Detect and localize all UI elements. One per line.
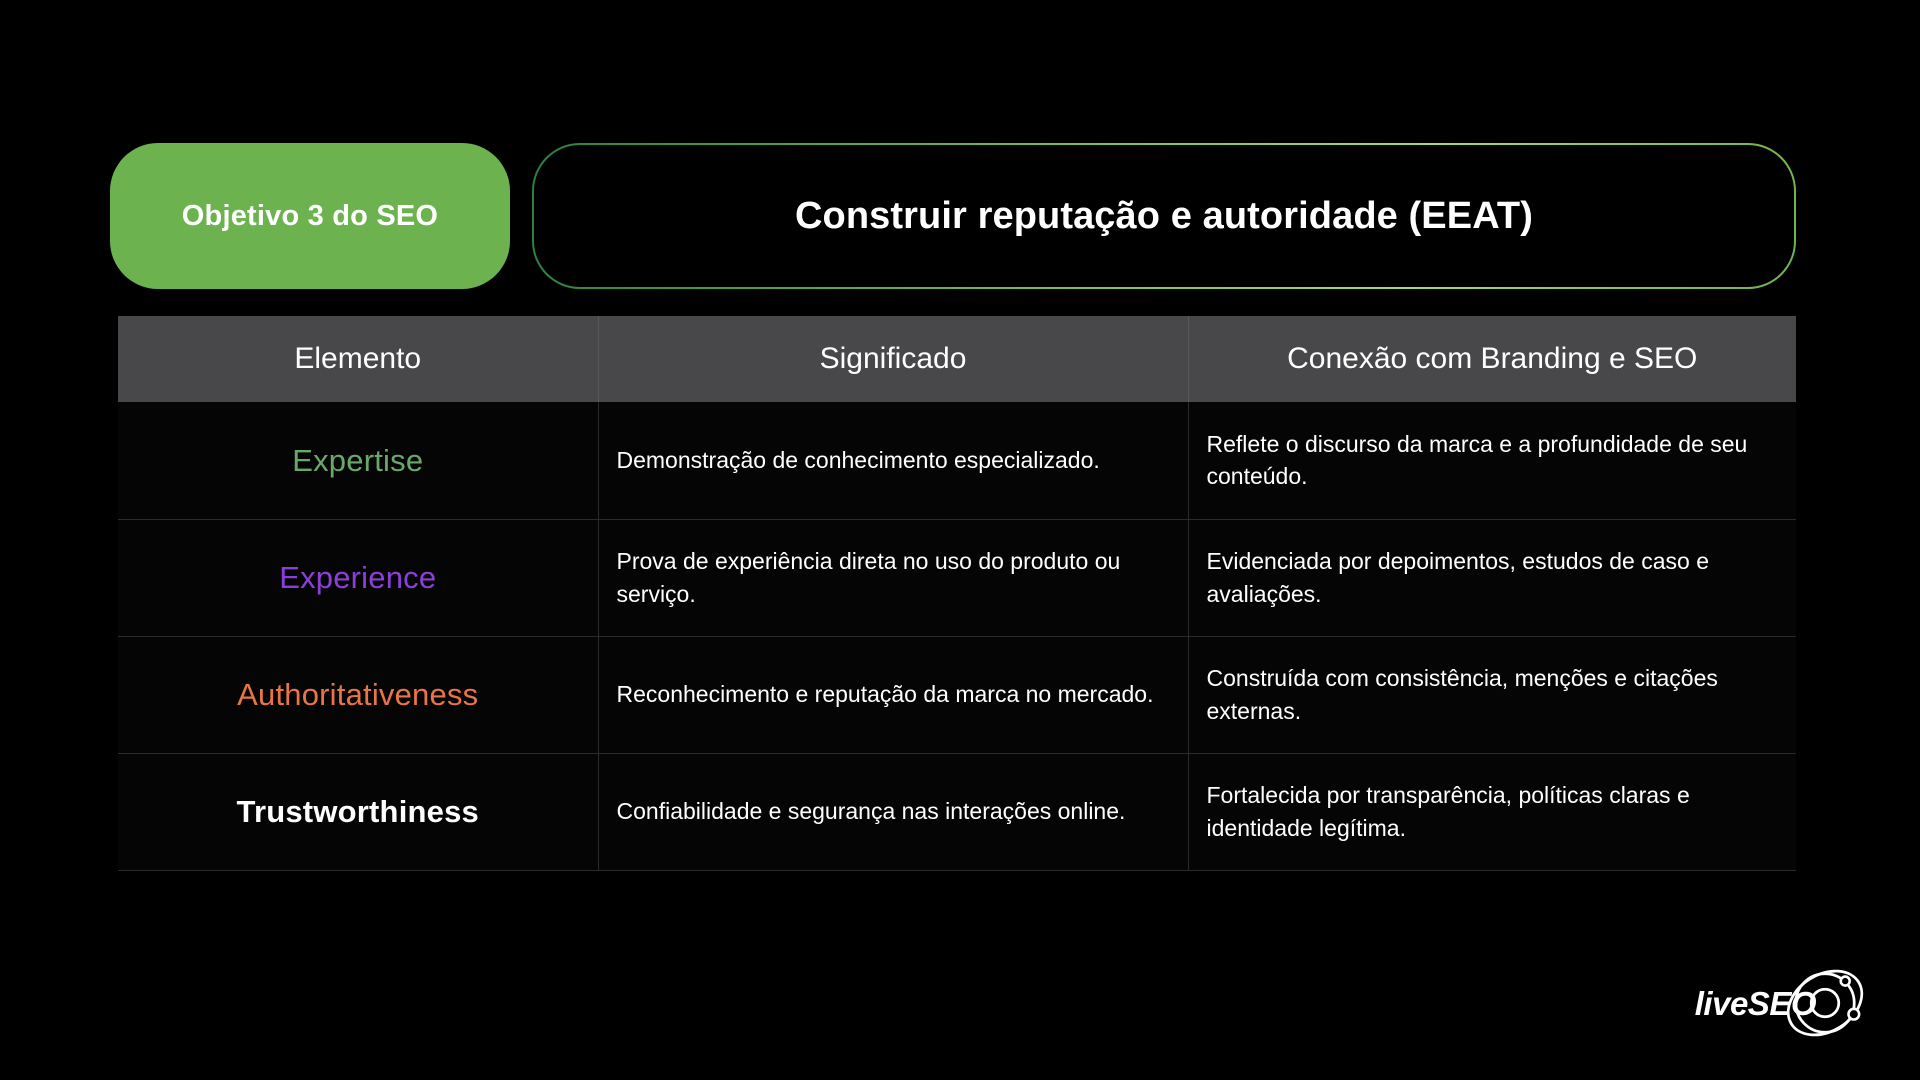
title-box: Construir reputação e autoridade (EEAT): [532, 143, 1796, 289]
table-row: Expertise Demonstração de conhecimento e…: [118, 402, 1796, 519]
cell-element: Trustworthiness: [118, 753, 598, 870]
table-header: Elemento Significado Conexão com Brandin…: [118, 316, 1796, 402]
column-header-conexao: Conexão com Branding e SEO: [1188, 316, 1796, 402]
table-body: Expertise Demonstração de conhecimento e…: [118, 402, 1796, 870]
column-header-significado: Significado: [598, 316, 1188, 402]
brand-logo: liveSEO: [1695, 960, 1868, 1046]
column-header-elemento: Elemento: [118, 316, 598, 402]
cell-meaning: Reconhecimento e reputação da marca no m…: [598, 636, 1188, 753]
title-box-inner: Construir reputação e autoridade (EEAT): [534, 145, 1794, 287]
table-row: Trustworthiness Confiabilidade e seguran…: [118, 753, 1796, 870]
element-name-experience: Experience: [279, 560, 436, 595]
cell-meaning: Demonstração de conhecimento especializa…: [598, 402, 1188, 519]
cell-connection: Fortalecida por transparência, políticas…: [1188, 753, 1796, 870]
brand-logo-wordmark: liveSEO: [1695, 987, 1816, 1020]
element-name-expertise: Expertise: [292, 443, 423, 478]
table-row: Authoritativeness Reconhecimento e reput…: [118, 636, 1796, 753]
page-title: Construir reputação e autoridade (EEAT): [795, 195, 1533, 238]
header-row: Objetivo 3 do SEO Construir reputação e …: [110, 143, 1796, 289]
cell-connection: Reflete o discurso da marca e a profundi…: [1188, 402, 1796, 519]
cell-meaning: Confiabilidade e segurança nas interaçõe…: [598, 753, 1188, 870]
table-header-row: Elemento Significado Conexão com Brandin…: [118, 316, 1796, 402]
element-name-authoritativeness: Authoritativeness: [237, 677, 478, 712]
cell-element: Authoritativeness: [118, 636, 598, 753]
objective-badge-label: Objetivo 3 do SEO: [182, 200, 438, 233]
objective-badge: Objetivo 3 do SEO: [110, 143, 510, 289]
element-name-trustworthiness: Trustworthiness: [237, 794, 479, 829]
eeat-table: Elemento Significado Conexão com Brandin…: [118, 316, 1796, 871]
cell-element: Experience: [118, 519, 598, 636]
table-row: Experience Prova de experiência direta n…: [118, 519, 1796, 636]
cell-connection: Evidenciada por depoimentos, estudos de …: [1188, 519, 1796, 636]
cell-meaning: Prova de experiência direta no uso do pr…: [598, 519, 1188, 636]
cell-connection: Construída com consistência, menções e c…: [1188, 636, 1796, 753]
cell-element: Expertise: [118, 402, 598, 519]
